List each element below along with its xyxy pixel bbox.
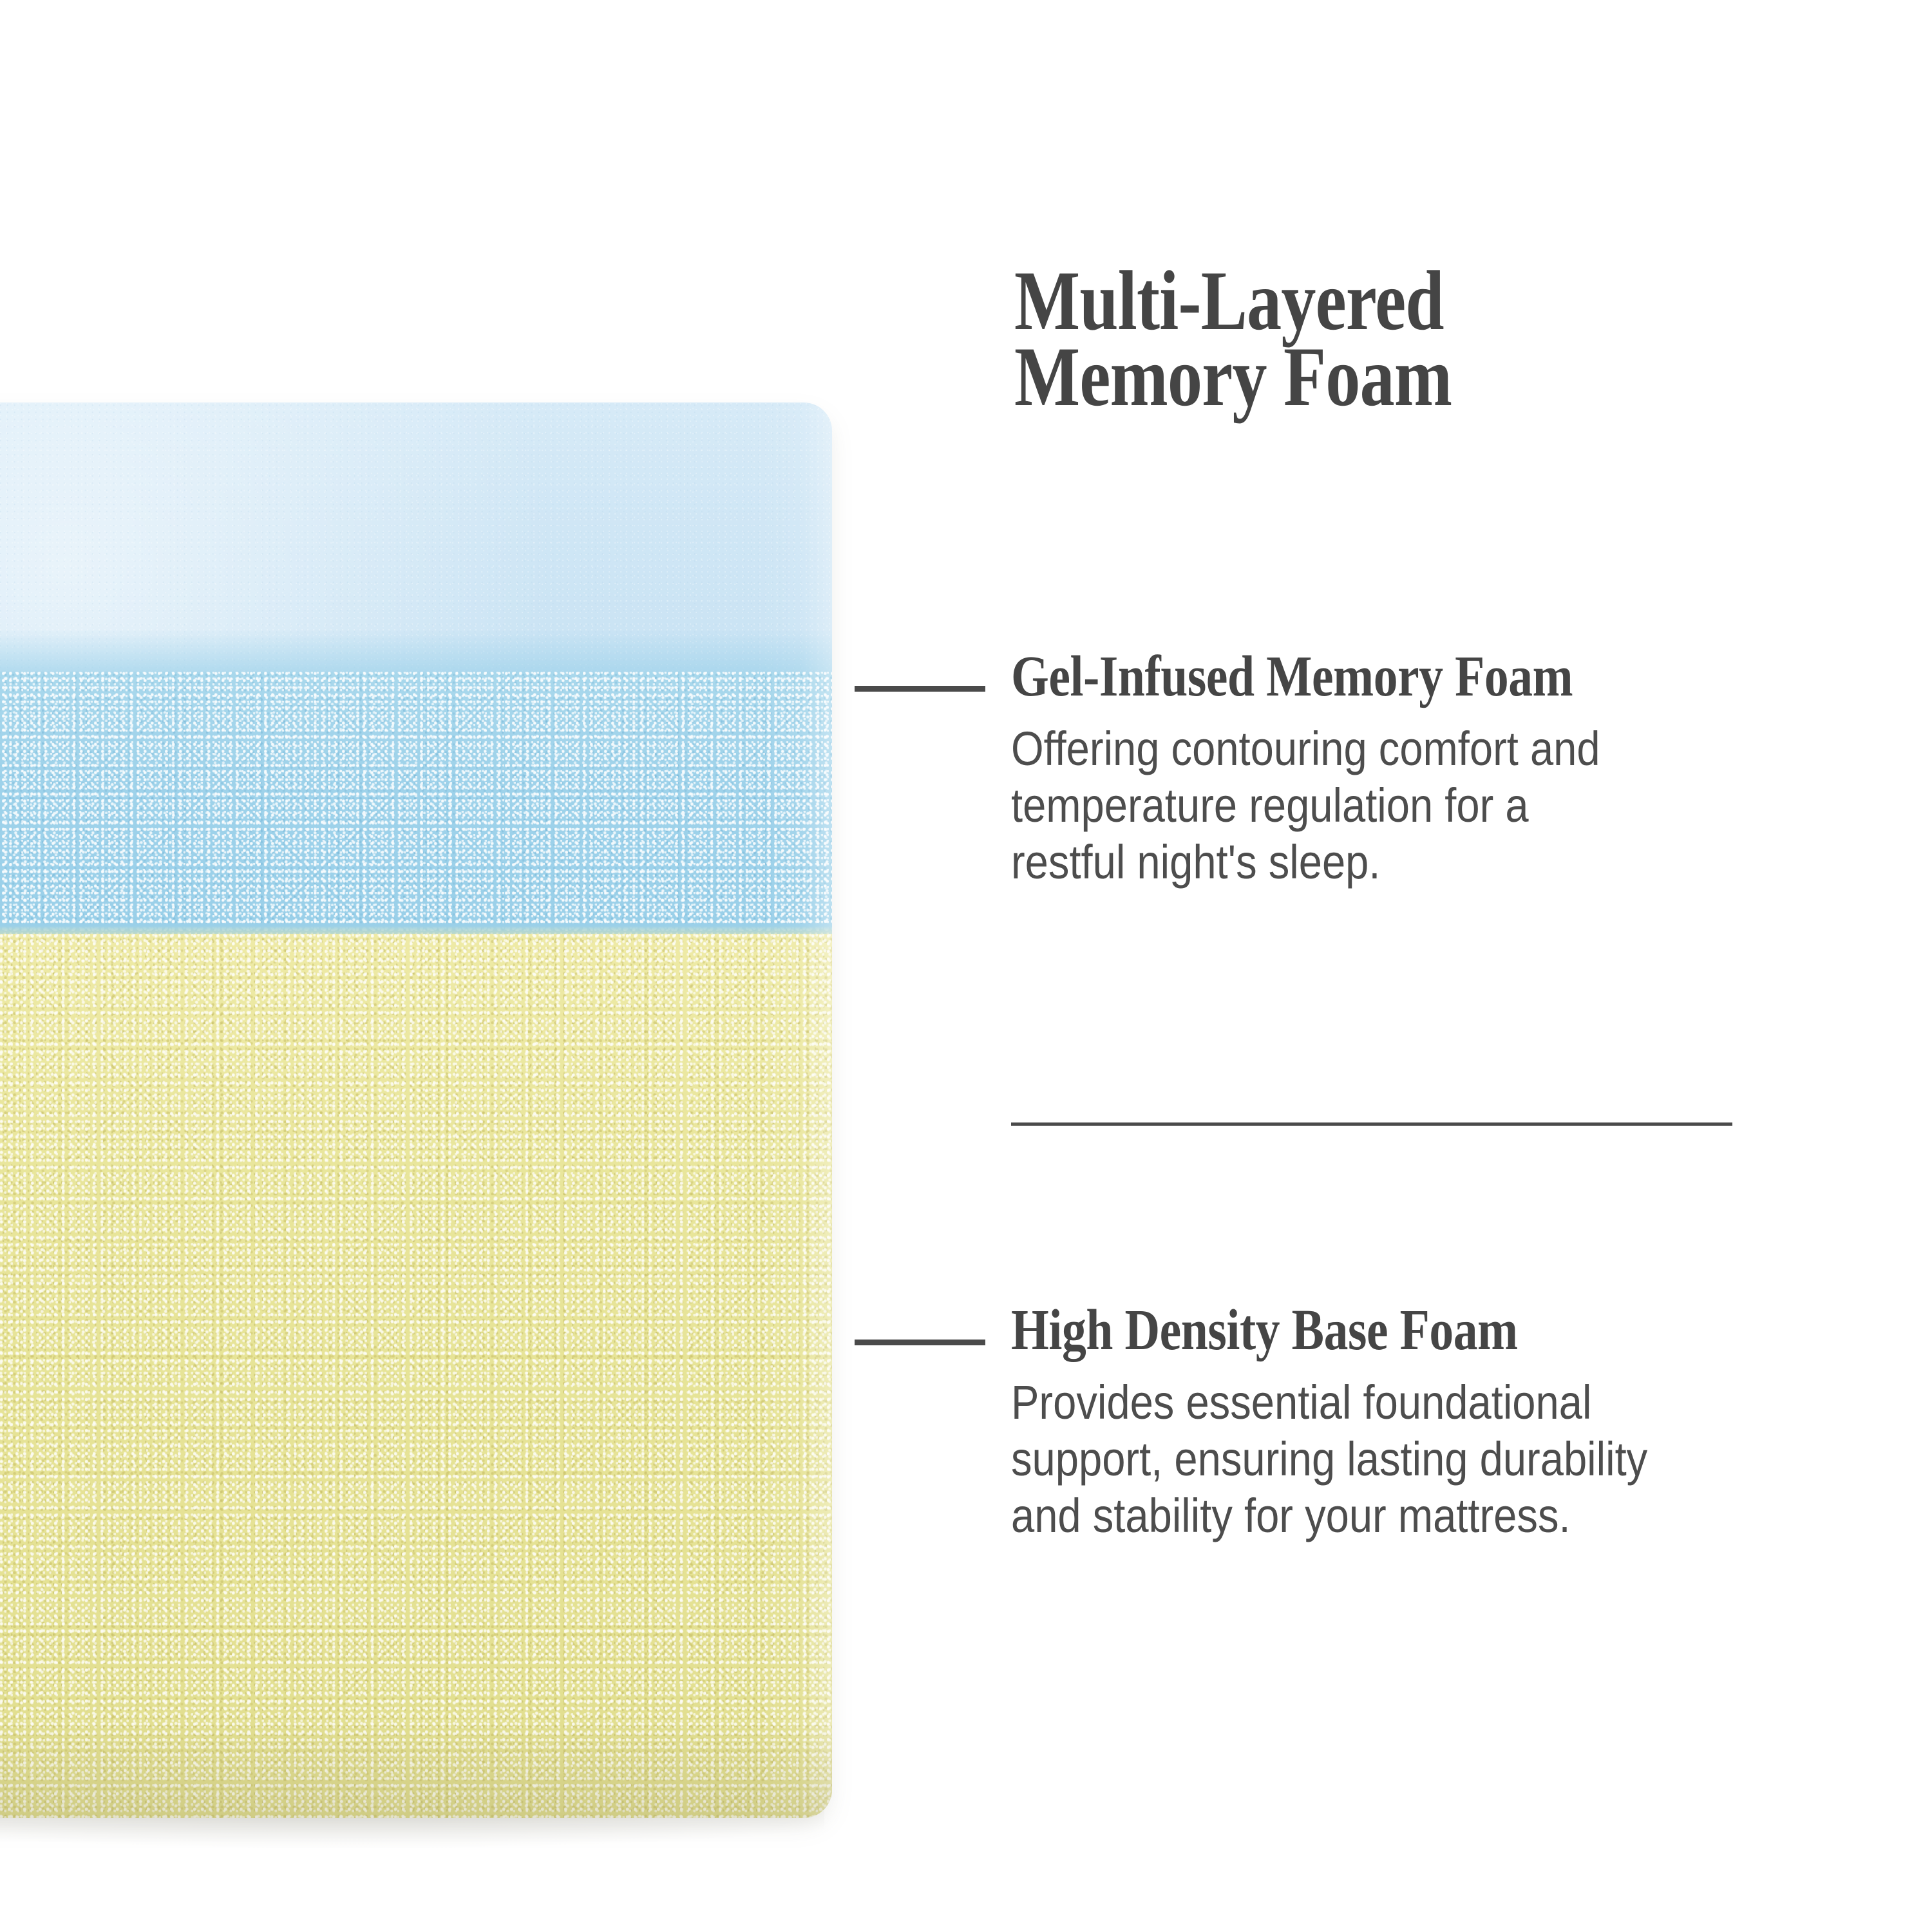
content-panel: Multi-Layered Memory Foam Gel-Infused Me… — [1011, 0, 1887, 1932]
page-title: Multi-Layered Memory Foam — [1014, 263, 1727, 415]
infographic-page: Multi-Layered Memory Foam Gel-Infused Me… — [0, 0, 1932, 1932]
foam-layer-gel-infused — [0, 672, 832, 937]
foam-layer-high-density-base — [0, 934, 832, 1818]
feature-body-gel-infused: Offering contouring comfort and temperat… — [1011, 721, 1782, 891]
feature-heading-high-density-base: High Density Base Foam — [1011, 1301, 1747, 1360]
dash-marker-icon — [855, 686, 985, 692]
feature-body-high-density-base: Provides essential foundational support,… — [1011, 1374, 1782, 1544]
feature-gel-infused-memory-foam: Gel-Infused Memory Foam Offering contour… — [1011, 647, 1887, 891]
feature-high-density-base-foam: High Density Base Foam Provides essentia… — [1011, 1301, 1887, 1544]
dash-marker-icon — [855, 1340, 985, 1345]
foam-block-image — [0, 402, 832, 1818]
section-divider — [1011, 1122, 1732, 1126]
feature-heading-gel-infused: Gel-Infused Memory Foam — [1011, 647, 1747, 706]
